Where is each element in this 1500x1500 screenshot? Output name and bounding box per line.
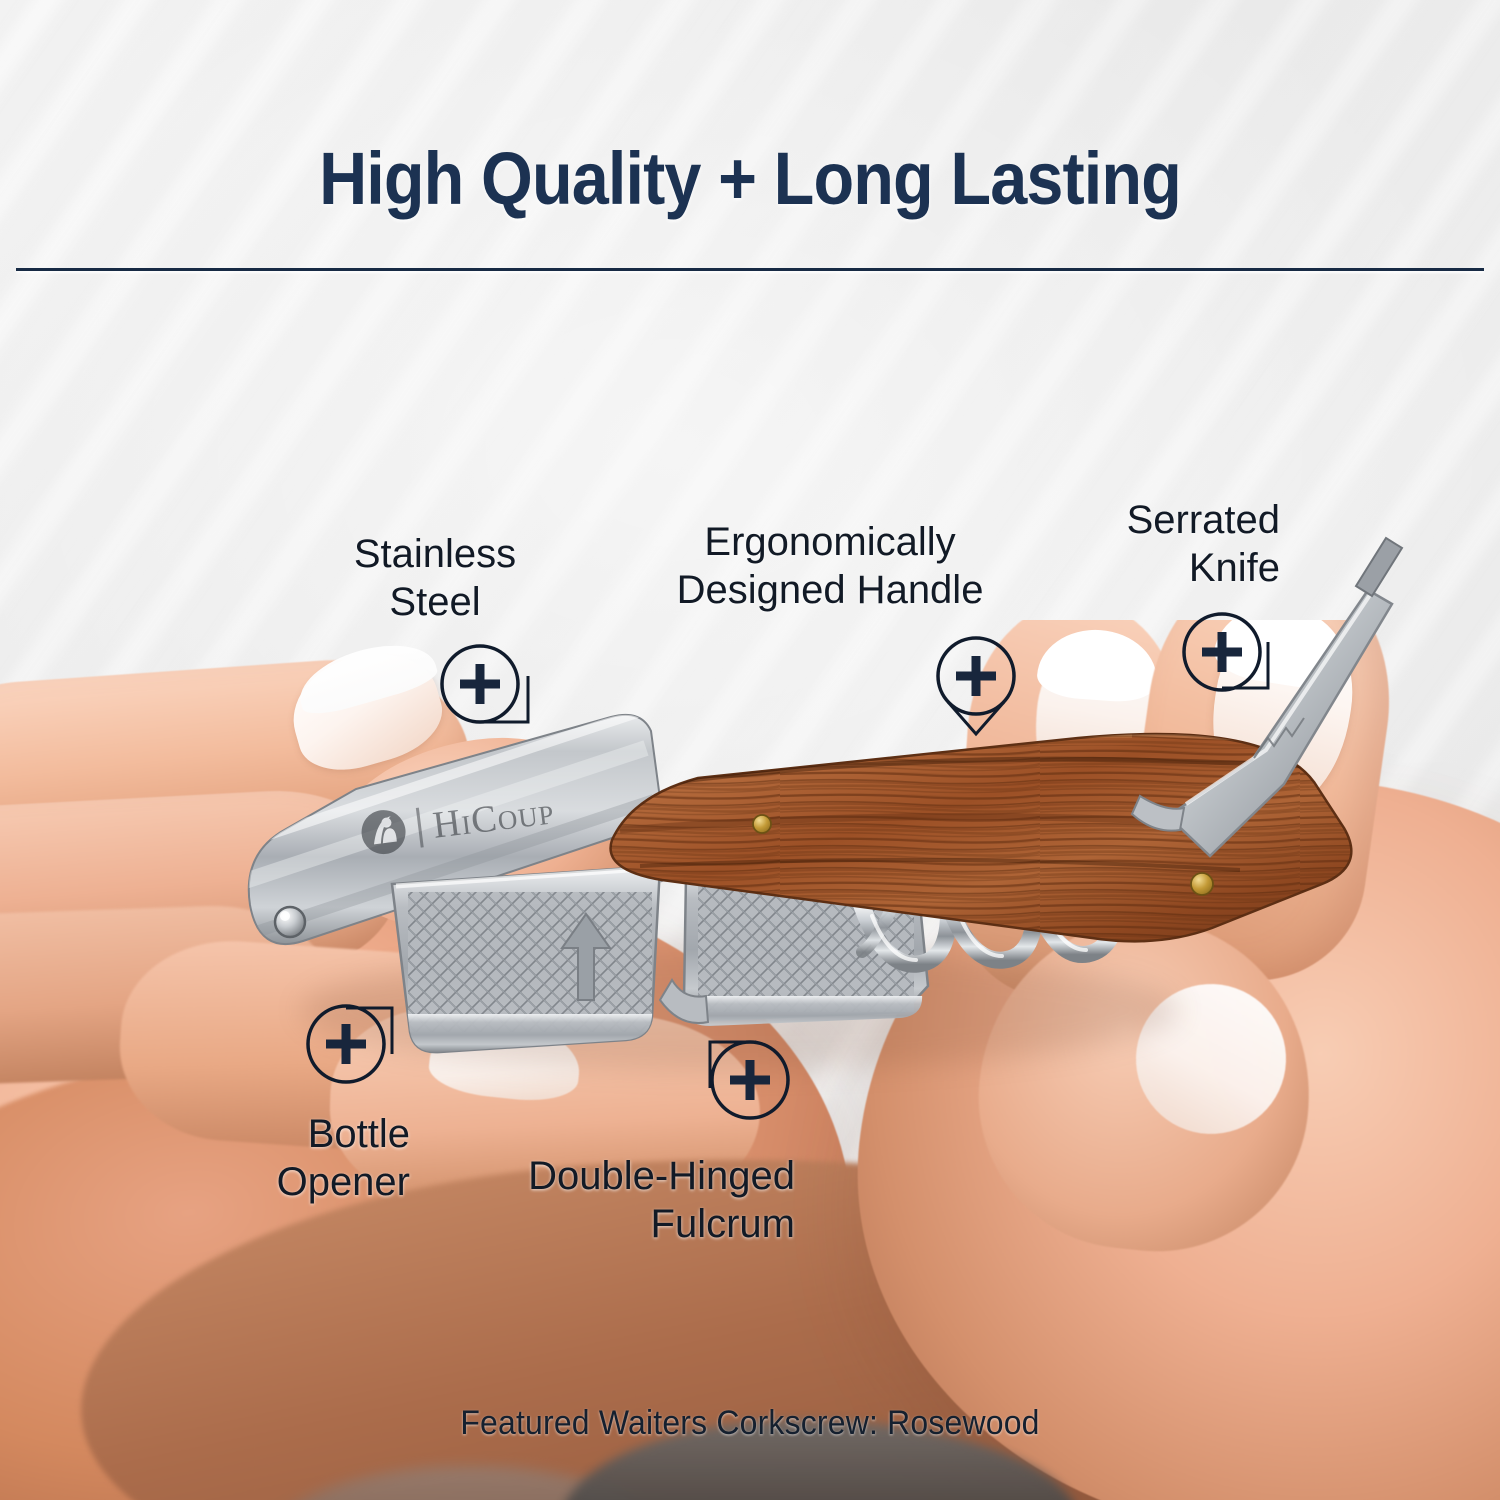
- feature-label-serrated-knife: Serrated Knife: [1020, 496, 1280, 592]
- feature-marker-stainless-steel[interactable]: [434, 640, 520, 726]
- logo-divider: [416, 808, 424, 848]
- featured-product-caption: Featured Waiters Corkscrew: Rosewood: [45, 1404, 1455, 1443]
- title-divider: [16, 268, 1484, 271]
- feature-label-stainless-steel: Stainless Steel: [300, 530, 570, 626]
- feature-marker-serrated-knife[interactable]: [1178, 608, 1264, 694]
- feature-marker-ergonomic-handle[interactable]: [926, 630, 1012, 716]
- product-feature-callout-image: HiCoup High Quality + Long Lasting Stain…: [0, 0, 1500, 1500]
- plus-marker-icon[interactable]: [434, 640, 544, 750]
- feature-label-bottle-opener: Bottle Opener: [190, 1110, 410, 1206]
- bottle-opener-lever: [392, 866, 668, 1052]
- plus-marker-icon[interactable]: [700, 1032, 810, 1142]
- pivot-rivet: [275, 907, 305, 937]
- brass-rivet-rear: [1191, 873, 1213, 895]
- feature-marker-bottle-opener[interactable]: [300, 996, 386, 1082]
- hicoup-circle-logo-icon: [358, 806, 409, 857]
- feature-marker-double-hinged-fulcrum[interactable]: [700, 1032, 786, 1118]
- feature-label-double-hinged-fulcrum: Double-Hinged Fulcrum: [420, 1152, 795, 1248]
- page-title: High Quality + Long Lasting: [75, 136, 1425, 221]
- brass-rivet-front: [753, 815, 771, 833]
- plus-marker-icon[interactable]: [300, 996, 410, 1106]
- plus-marker-icon[interactable]: [926, 630, 1036, 750]
- feature-label-ergonomic-handle: Ergonomically Designed Handle: [610, 518, 1050, 614]
- waiters-corkscrew-tool: [0, 0, 1500, 1500]
- plus-marker-icon[interactable]: [1178, 608, 1288, 718]
